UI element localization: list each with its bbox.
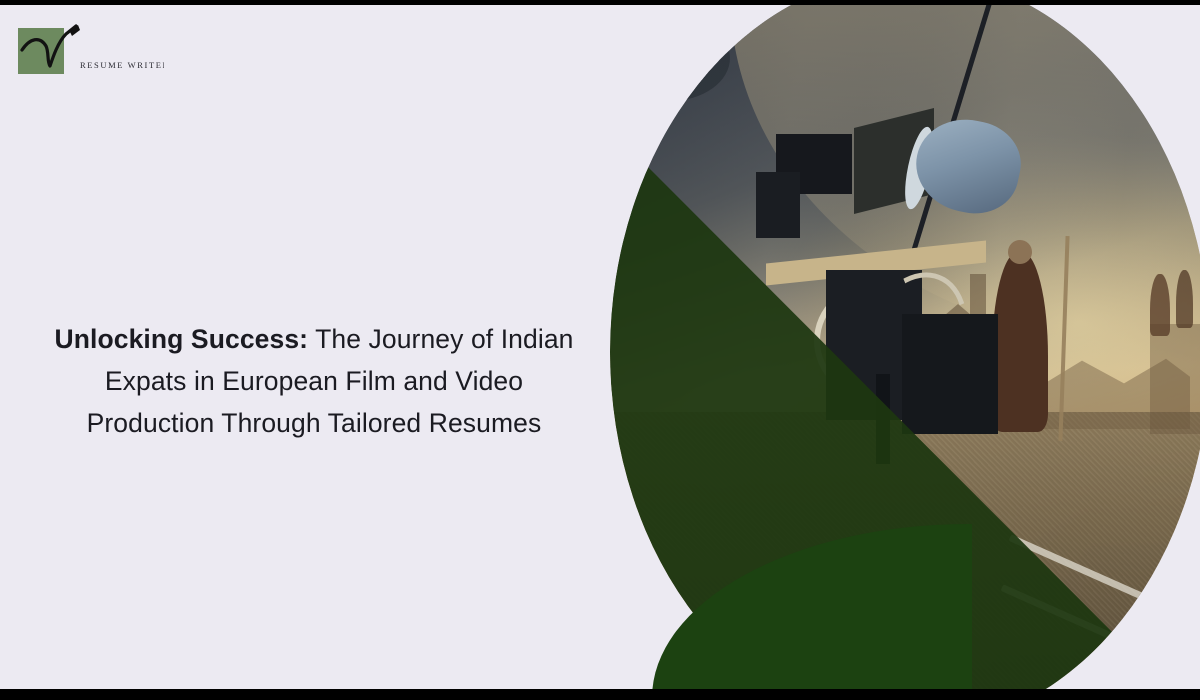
letterbox-bar-bottom: [0, 689, 1200, 700]
headline-lead: Unlocking Success:: [54, 324, 308, 354]
resume-writer-logo[interactable]: Resume Writer: [14, 24, 164, 86]
background-extra: [1176, 270, 1193, 328]
building-silhouette: [1150, 324, 1200, 434]
logo-wordmark: Resume Writer: [80, 60, 164, 70]
blog-header-banner: Resume Writer Unlocking Success: The Jou…: [0, 0, 1200, 700]
hero-media: [596, 0, 1200, 700]
page-title: Unlocking Success: The Journey of Indian…: [40, 318, 588, 444]
light-flag: [756, 172, 800, 238]
background-extra: [1150, 274, 1170, 336]
letterbox-bar-top: [0, 0, 1200, 5]
logo-mark-icon: Resume Writer: [14, 24, 164, 86]
camera-body: [902, 314, 998, 434]
